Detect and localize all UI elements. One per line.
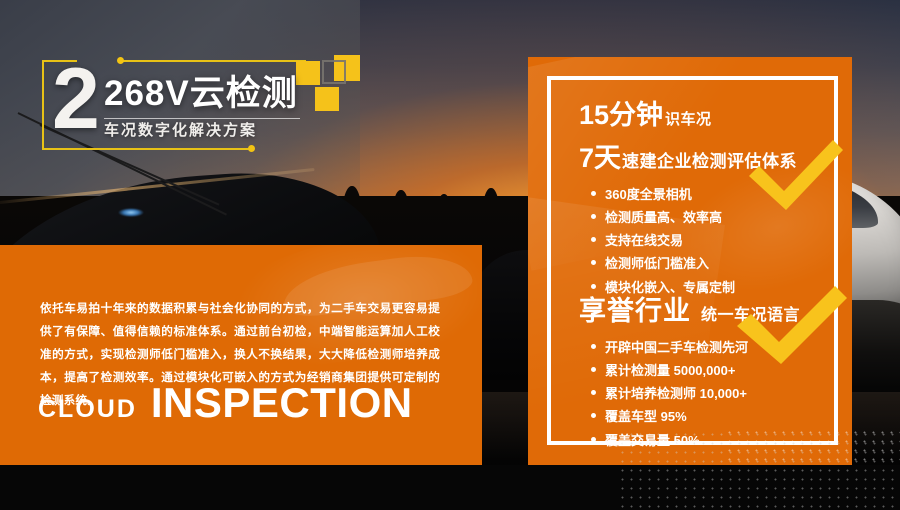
- yellow-square-outline: [322, 60, 346, 84]
- title-small-15min: 识车况: [665, 108, 712, 129]
- list-item: 覆盖车型 95%: [591, 405, 820, 428]
- list-item: 覆盖交易量 50%: [591, 429, 820, 452]
- page-title: 268V云检测: [104, 76, 298, 111]
- frame-dot-top-icon: [117, 57, 124, 64]
- list-item: 360度全景相机: [591, 183, 820, 206]
- list-item: 检测质量高、效率高: [591, 206, 820, 229]
- yellow-square-3: [315, 87, 339, 111]
- brand-word-inspection: INSPECTION: [151, 379, 413, 427]
- yellow-square-1: [296, 61, 320, 85]
- list-item: 累计培养检测师 10,000+: [591, 382, 820, 405]
- title-divider: [104, 118, 300, 119]
- left-orange-panel: 依托车易拍十年来的数据积累与社会化协同的方式，为二手车交易更容易提供了有保障、值…: [0, 245, 482, 465]
- list-item: 检测师低门槛准入: [591, 252, 820, 275]
- brand-wordmark: CLOUD INSPECTION: [38, 379, 413, 427]
- list-item: 支持在线交易: [591, 229, 820, 252]
- feature-block-top: 15分钟 识车况 7天 速建企业检测评估体系 360度全景相机 检测质量高、效率…: [579, 93, 820, 299]
- frame-left-edge: [42, 60, 44, 150]
- section-number: 2: [52, 56, 98, 142]
- brand-word-cloud: CLOUD: [38, 395, 137, 424]
- feature-list-bottom: 开辟中国二手车检测先河 累计检测量 5000,000+ 累计培养检测师 10,0…: [591, 336, 820, 452]
- right-orange-panel: 15分钟 识车况 7天 速建企业检测评估体系 360度全景相机 检测质量高、效率…: [528, 57, 852, 465]
- title-big-7day: 7天: [579, 136, 621, 175]
- frame-dot-bottom-icon: [248, 145, 255, 152]
- list-item: 累计检测量 5000,000+: [591, 359, 820, 382]
- list-item: 开辟中国二手车检测先河: [591, 336, 820, 359]
- page-subtitle: 车况数字化解决方案: [104, 123, 257, 138]
- headlight-glow: [118, 208, 144, 217]
- slide-canvas: 2 268V云检测 车况数字化解决方案 依托车易拍十年来的数据积累与社会化协同的…: [0, 0, 900, 510]
- list-item: 模块化嵌入、专属定制: [591, 276, 820, 299]
- title-big-15min: 15分钟: [579, 93, 663, 132]
- right-panel-content: 15分钟 识车况 7天 速建企业检测评估体系 360度全景相机 检测质量高、效率…: [547, 76, 838, 445]
- feature-list-top: 360度全景相机 检测质量高、效率高 支持在线交易 检测师低门槛准入 模块化嵌入…: [591, 183, 820, 299]
- frame-bottom-edge: [42, 148, 252, 150]
- yellow-square-decoration: [296, 55, 360, 111]
- feature-block-top-title-1: 15分钟 识车况: [579, 93, 820, 132]
- frame-top-edge-b: [120, 60, 306, 62]
